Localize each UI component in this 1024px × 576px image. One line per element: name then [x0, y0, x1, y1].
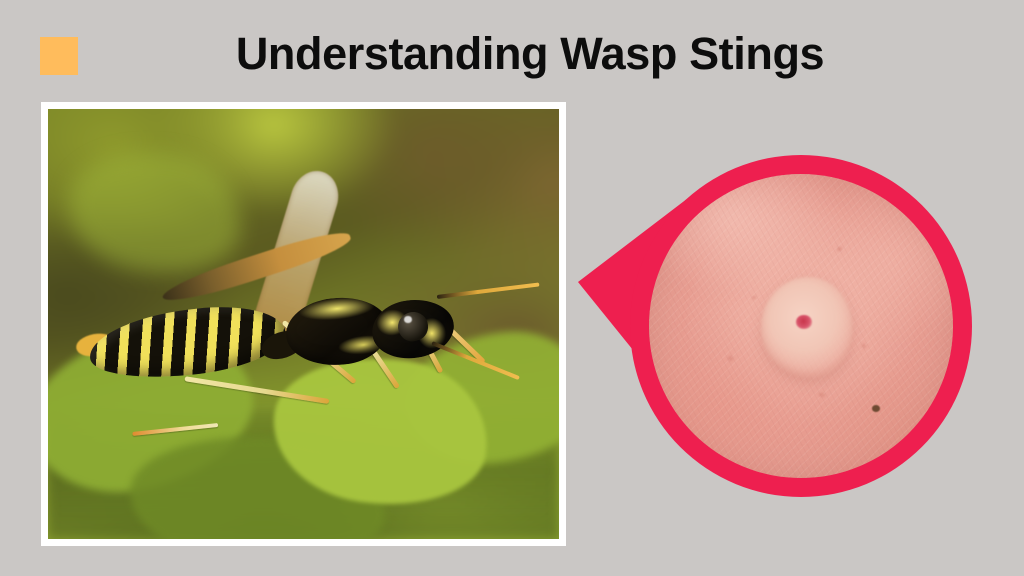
orange-square-accent: [40, 37, 78, 75]
wasp-wing-lower: [159, 225, 354, 309]
sting-callout: [578, 150, 972, 500]
wasp-abdomen: [86, 298, 290, 387]
wasp-leg: [132, 423, 218, 436]
skin-spot: [837, 247, 841, 251]
skin-spot: [728, 356, 733, 360]
wasp-leg: [185, 376, 330, 404]
wasp-photo: [48, 109, 559, 539]
sting-photo: [649, 174, 953, 478]
wasp-antenna: [432, 341, 521, 380]
page-title: Understanding Wasp Stings: [110, 26, 950, 82]
sting-puncture-point: [796, 315, 811, 328]
wasp-eye-glint: [404, 316, 412, 324]
wasp-photo-frame: [41, 102, 566, 546]
skin-mole: [872, 405, 880, 412]
wasp-illustration: [89, 221, 518, 462]
slide-canvas: Understanding Wasp Stings: [0, 0, 1024, 576]
